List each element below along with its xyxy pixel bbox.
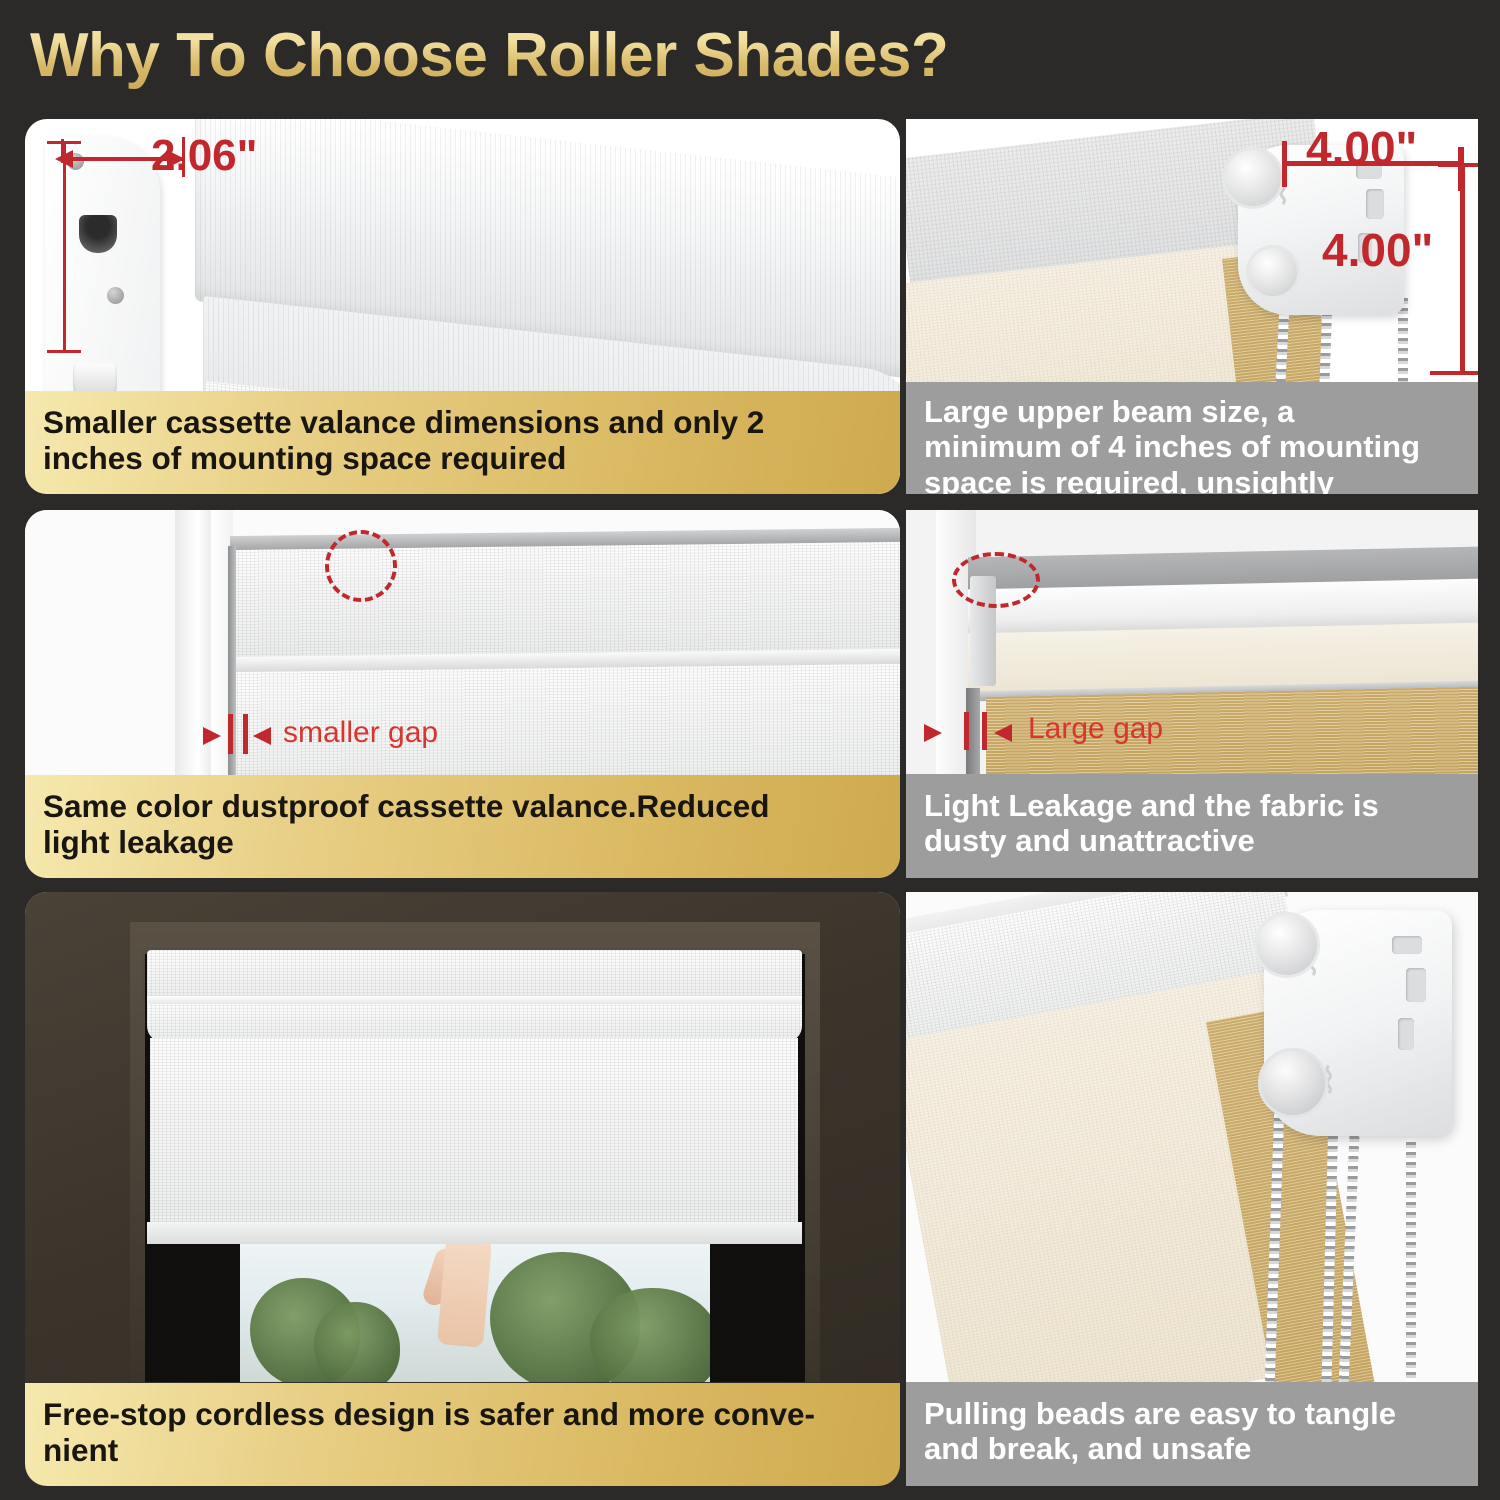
caption-large-upper-beam: Large upper beam size, a minimum of 4 in… — [906, 382, 1478, 494]
caption-line: minimum of 4 inches of mounting — [924, 429, 1460, 464]
dim-width-label: 2.06" — [151, 131, 258, 181]
gap-label: Large gap — [1028, 712, 1163, 746]
caption-line: dusty and unattractive — [924, 823, 1460, 858]
dim-height-line — [63, 141, 66, 353]
shade-bottom-hem — [147, 1222, 802, 1244]
dim-height-tick — [1430, 371, 1478, 375]
bead-chain — [1406, 1138, 1416, 1388]
dim-width-tick — [1282, 141, 1287, 187]
caption-line: Pulling beads are easy to tangle — [924, 1396, 1460, 1431]
roller-end-cap — [1254, 912, 1320, 978]
dim-height-label: 4.00" — [1322, 223, 1433, 277]
dim-width-label: 4.00" — [1306, 121, 1417, 175]
screw-icon — [107, 287, 124, 304]
caption-line: Same color dustproof cassette valance.Re… — [43, 789, 882, 825]
dim-height-line — [1460, 163, 1465, 375]
gap-tick — [982, 712, 987, 750]
caption-line: Free-stop cordless design is safer and m… — [43, 1397, 882, 1433]
comparison-grid: 2.06" 5.49" Smaller cassette valance dim… — [0, 110, 1500, 1495]
bracket-slot-icon — [1366, 189, 1384, 219]
gap-arrow-left — [253, 727, 271, 745]
caption-dustproof-cassette: Same color dustproof cassette valance.Re… — [25, 775, 900, 878]
gap-tick — [964, 712, 969, 750]
caption-line: nient — [43, 1433, 882, 1469]
panel-light-leakage[interactable]: Large gap Light Leakage and the fabric i… — [906, 510, 1478, 878]
gap-arrow-right — [924, 724, 942, 742]
caption-line: Light Leakage and the fabric is — [924, 788, 1460, 823]
caption-pulling-beads: Pulling beads are easy to tangle and bre… — [906, 1382, 1478, 1486]
roller-end-cap — [1222, 147, 1284, 209]
panel-pulling-beads[interactable]: ⌇ ⌇ Pulling beads are easy to tangle and… — [906, 892, 1478, 1486]
bracket-slot-icon — [1392, 936, 1422, 954]
bracket-slot-icon — [1398, 1018, 1414, 1050]
gap-arrow-right — [203, 727, 221, 745]
caption-line: and break, and unsafe — [924, 1431, 1460, 1466]
gap-tick — [228, 714, 233, 754]
gap-label: smaller gap — [283, 716, 438, 750]
cassette-valance — [147, 950, 802, 1002]
caption-smaller-cassette: Smaller cassette valance dimensions and … — [25, 391, 900, 494]
panel-smaller-cassette[interactable]: 2.06" 5.49" Smaller cassette valance dim… — [25, 119, 900, 494]
caption-line: Smaller cassette valance dimensions and … — [43, 405, 882, 441]
bracket-slot-icon — [1406, 968, 1426, 1002]
roller-tube — [147, 1004, 802, 1042]
dim-height-tick — [1438, 163, 1478, 167]
caption-light-leakage: Light Leakage and the fabric is dusty an… — [906, 774, 1478, 878]
caption-free-stop-cordless: Free-stop cordless design is safer and m… — [25, 1383, 900, 1486]
caption-line: light leakage — [43, 825, 882, 861]
caption-line: inches of mounting space required — [43, 441, 882, 477]
caption-line: space is required, unsightly — [924, 465, 1460, 494]
roller-end-cap — [1258, 1048, 1328, 1118]
gap-tick — [243, 714, 248, 754]
dim-height-tick — [47, 350, 81, 353]
panel-free-stop-cordless[interactable]: Free-stop cordless design is safer and m… — [25, 892, 900, 1486]
header: Why To Choose Roller Shades? — [30, 16, 1090, 96]
caption-line: Large upper beam size, a — [924, 394, 1460, 429]
tree-icon — [590, 1288, 710, 1382]
roller-socket-icon — [79, 215, 117, 253]
panel-large-upper-beam[interactable]: ⌇ 4.00" 4.00" Large upper beam size, a m… — [906, 119, 1478, 494]
highlight-circle — [325, 530, 397, 602]
shade-left-edge — [228, 546, 236, 800]
roller-end-cap — [1246, 245, 1300, 299]
gap-arrow-left — [994, 724, 1012, 742]
shade-fabric — [150, 1038, 798, 1228]
panel-dustproof-cassette[interactable]: smaller gap Same color dustproof cassett… — [25, 510, 900, 878]
dim-height-tick — [47, 141, 81, 144]
highlight-circle — [952, 552, 1040, 608]
page-title: Why To Choose Roller Shades? — [30, 16, 1090, 96]
tree-icon — [314, 1302, 400, 1382]
